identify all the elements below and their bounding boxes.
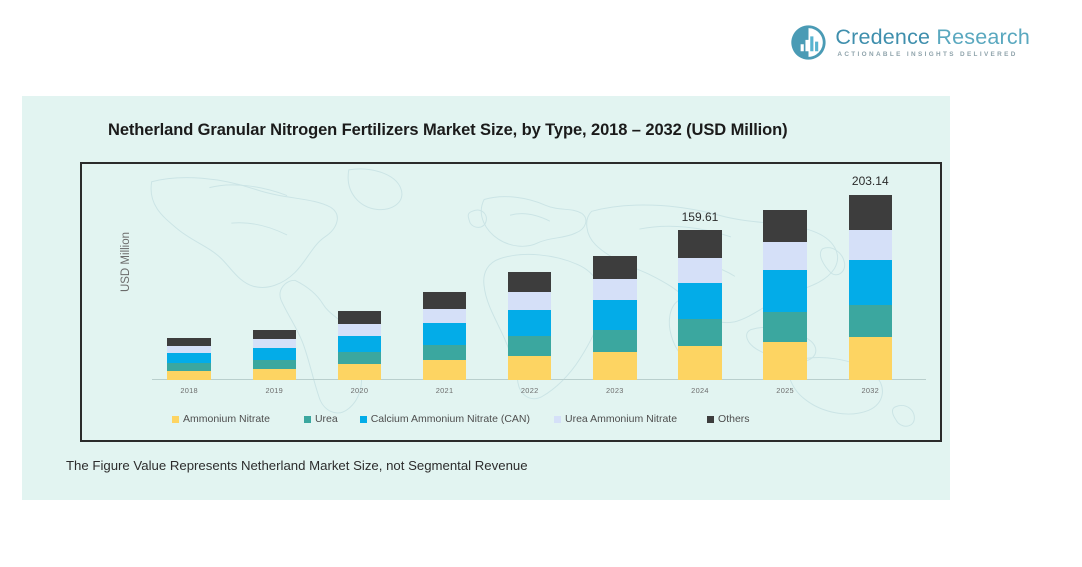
x-tick-2024: 2024 bbox=[678, 386, 721, 395]
x-tick-2025: 2025 bbox=[763, 386, 806, 395]
bar-segment-others bbox=[763, 210, 806, 242]
legend-item-others[interactable]: Others bbox=[707, 413, 750, 425]
bar-segment-calcium-ammonium-nitrate bbox=[678, 283, 721, 319]
bar-segment-ammonium-nitrate bbox=[167, 371, 210, 380]
bar-segment-others bbox=[593, 256, 636, 279]
legend-swatch-others bbox=[707, 416, 714, 423]
bar-2022[interactable] bbox=[508, 272, 551, 380]
bar-2023[interactable] bbox=[593, 256, 636, 380]
bar-segment-urea-ammonium-nitrate bbox=[167, 346, 210, 353]
credence-research-logo-icon bbox=[791, 25, 826, 60]
legend-label-ammonium-nitrate: Ammonium Nitrate bbox=[183, 413, 270, 425]
bar-segment-ammonium-nitrate bbox=[338, 364, 381, 380]
bar-segment-ammonium-nitrate bbox=[423, 360, 466, 380]
bar-2021[interactable] bbox=[423, 292, 466, 380]
bar-2024[interactable]: 159.61 bbox=[678, 230, 721, 380]
header-bar: Credence Research Actionable Insights De… bbox=[0, 0, 1082, 86]
chart-title: Netherland Granular Nitrogen Fertilizers… bbox=[108, 121, 788, 140]
bar-segment-urea-ammonium-nitrate bbox=[678, 258, 721, 283]
legend-swatch-urea bbox=[304, 416, 311, 423]
brand-logo: Credence Research Actionable Insights De… bbox=[791, 25, 1030, 60]
bar-segment-urea bbox=[849, 305, 892, 337]
legend-item-calcium-ammonium-nitrate[interactable]: Calcium Ammonium Nitrate (CAN) bbox=[360, 413, 530, 425]
bar-segment-urea-ammonium-nitrate bbox=[338, 324, 381, 336]
bar-segment-urea bbox=[763, 312, 806, 342]
bar-2020[interactable] bbox=[338, 311, 381, 380]
bar-segment-calcium-ammonium-nitrate bbox=[167, 353, 210, 363]
bar-segment-urea bbox=[423, 345, 466, 360]
legend-swatch-urea-ammonium-nitrate bbox=[554, 416, 561, 423]
bar-segment-urea bbox=[593, 330, 636, 352]
bar-value-label-2024: 159.61 bbox=[682, 210, 719, 224]
bar-segment-ammonium-nitrate bbox=[678, 346, 721, 380]
bar-segment-urea bbox=[678, 319, 721, 346]
bar-segment-urea bbox=[338, 352, 381, 364]
bar-segment-ammonium-nitrate bbox=[593, 352, 636, 380]
legend-item-ammonium-nitrate[interactable]: Ammonium Nitrate bbox=[172, 413, 270, 425]
brand-name: Credence Research bbox=[835, 27, 1030, 49]
legend-swatch-ammonium-nitrate bbox=[172, 416, 179, 423]
bar-segment-others bbox=[423, 292, 466, 309]
x-axis-tick-labels: 2018 2019 2020 2021 2022 2023 2024 2025 … bbox=[152, 386, 926, 402]
legend-label-urea-ammonium-nitrate: Urea Ammonium Nitrate bbox=[565, 413, 677, 425]
bar-2018[interactable] bbox=[167, 338, 210, 380]
bar-segment-others bbox=[167, 338, 210, 346]
x-tick-2021: 2021 bbox=[423, 386, 466, 395]
bar-segment-calcium-ammonium-nitrate bbox=[508, 310, 551, 336]
x-tick-2022: 2022 bbox=[508, 386, 551, 395]
chart-legend: Ammonium Nitrate Urea Calcium Ammonium N… bbox=[156, 410, 930, 428]
x-tick-2018: 2018 bbox=[167, 386, 210, 395]
bar-segment-urea-ammonium-nitrate bbox=[763, 242, 806, 270]
bar-segment-calcium-ammonium-nitrate bbox=[849, 260, 892, 305]
bar-segment-others bbox=[253, 330, 296, 339]
bar-segment-calcium-ammonium-nitrate bbox=[423, 323, 466, 344]
bar-segment-ammonium-nitrate bbox=[763, 342, 806, 380]
bar-segment-ammonium-nitrate bbox=[508, 356, 551, 380]
legend-item-urea-ammonium-nitrate[interactable]: Urea Ammonium Nitrate bbox=[554, 413, 677, 425]
bar-segment-calcium-ammonium-nitrate bbox=[763, 270, 806, 311]
plot-area: 159.61 203.14 bbox=[152, 170, 926, 380]
bar-segment-urea-ammonium-nitrate bbox=[253, 339, 296, 347]
bar-2032[interactable]: 203.14 bbox=[849, 195, 892, 380]
bar-segment-urea-ammonium-nitrate bbox=[508, 292, 551, 310]
bar-segment-calcium-ammonium-nitrate bbox=[253, 348, 296, 360]
chart-card: Netherland Granular Nitrogen Fertilizers… bbox=[22, 96, 950, 500]
bar-segment-others bbox=[849, 195, 892, 230]
brand-name-first: Credence bbox=[835, 25, 930, 49]
legend-label-others: Others bbox=[718, 413, 750, 425]
bar-segment-calcium-ammonium-nitrate bbox=[338, 336, 381, 353]
bar-segment-urea bbox=[167, 363, 210, 370]
x-tick-2023: 2023 bbox=[593, 386, 636, 395]
bar-segment-others bbox=[508, 272, 551, 292]
bar-segment-ammonium-nitrate bbox=[253, 369, 296, 380]
bar-segment-urea bbox=[508, 336, 551, 355]
chart-plot-panel: USD Million bbox=[80, 162, 942, 442]
x-tick-2019: 2019 bbox=[253, 386, 296, 395]
chart-footnote: The Figure Value Represents Netherland M… bbox=[66, 458, 528, 473]
legend-label-calcium-ammonium-nitrate: Calcium Ammonium Nitrate (CAN) bbox=[371, 413, 530, 425]
brand-name-second: Research bbox=[936, 25, 1030, 49]
bar-value-label-2032: 203.14 bbox=[852, 174, 889, 188]
x-tick-2020: 2020 bbox=[338, 386, 381, 395]
bar-segment-ammonium-nitrate bbox=[849, 337, 892, 380]
legend-label-urea: Urea bbox=[315, 413, 338, 425]
legend-item-urea[interactable]: Urea bbox=[304, 413, 338, 425]
bar-segment-others bbox=[678, 230, 721, 258]
x-tick-2032: 2032 bbox=[849, 386, 892, 395]
legend-swatch-calcium-ammonium-nitrate bbox=[360, 416, 367, 423]
bar-segment-urea bbox=[253, 360, 296, 369]
bar-segment-others bbox=[338, 311, 381, 324]
bar-2019[interactable] bbox=[253, 330, 296, 380]
bar-segment-calcium-ammonium-nitrate bbox=[593, 300, 636, 330]
bar-segment-urea-ammonium-nitrate bbox=[423, 309, 466, 324]
y-axis-label: USD Million bbox=[120, 202, 132, 322]
bar-segment-urea-ammonium-nitrate bbox=[593, 279, 636, 300]
brand-tagline: Actionable Insights Delivered bbox=[837, 52, 1030, 58]
bar-segment-urea-ammonium-nitrate bbox=[849, 230, 892, 261]
bar-2025[interactable] bbox=[763, 210, 806, 380]
